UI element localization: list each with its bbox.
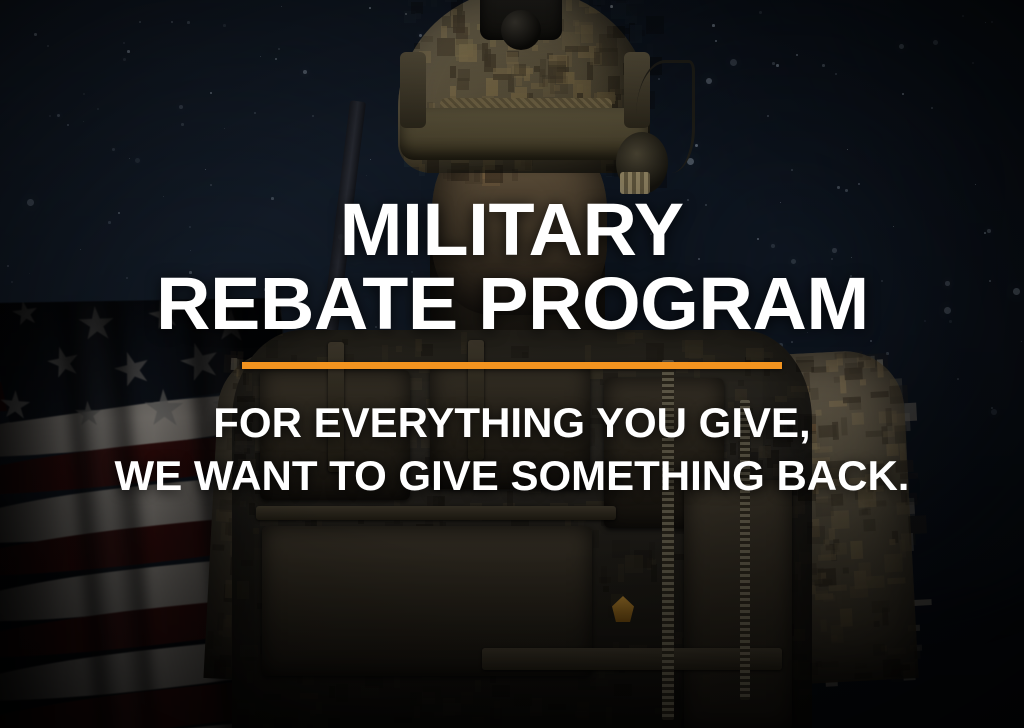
military-rebate-banner: MILITARY REBATE PROGRAM FOR EVERYTHING Y…	[0, 0, 1024, 728]
headline-line-1: MILITARY	[340, 196, 684, 264]
subheadline-line-1: FOR EVERYTHING YOU GIVE,	[115, 397, 910, 450]
banner-content: MILITARY REBATE PROGRAM FOR EVERYTHING Y…	[0, 0, 1024, 728]
headline-line-2: REBATE PROGRAM	[156, 270, 869, 338]
subheadline-line-2: WE WANT TO GIVE SOMETHING BACK.	[115, 450, 910, 503]
subheadline: FOR EVERYTHING YOU GIVE, WE WANT TO GIVE…	[115, 397, 910, 503]
orange-divider	[242, 362, 782, 369]
